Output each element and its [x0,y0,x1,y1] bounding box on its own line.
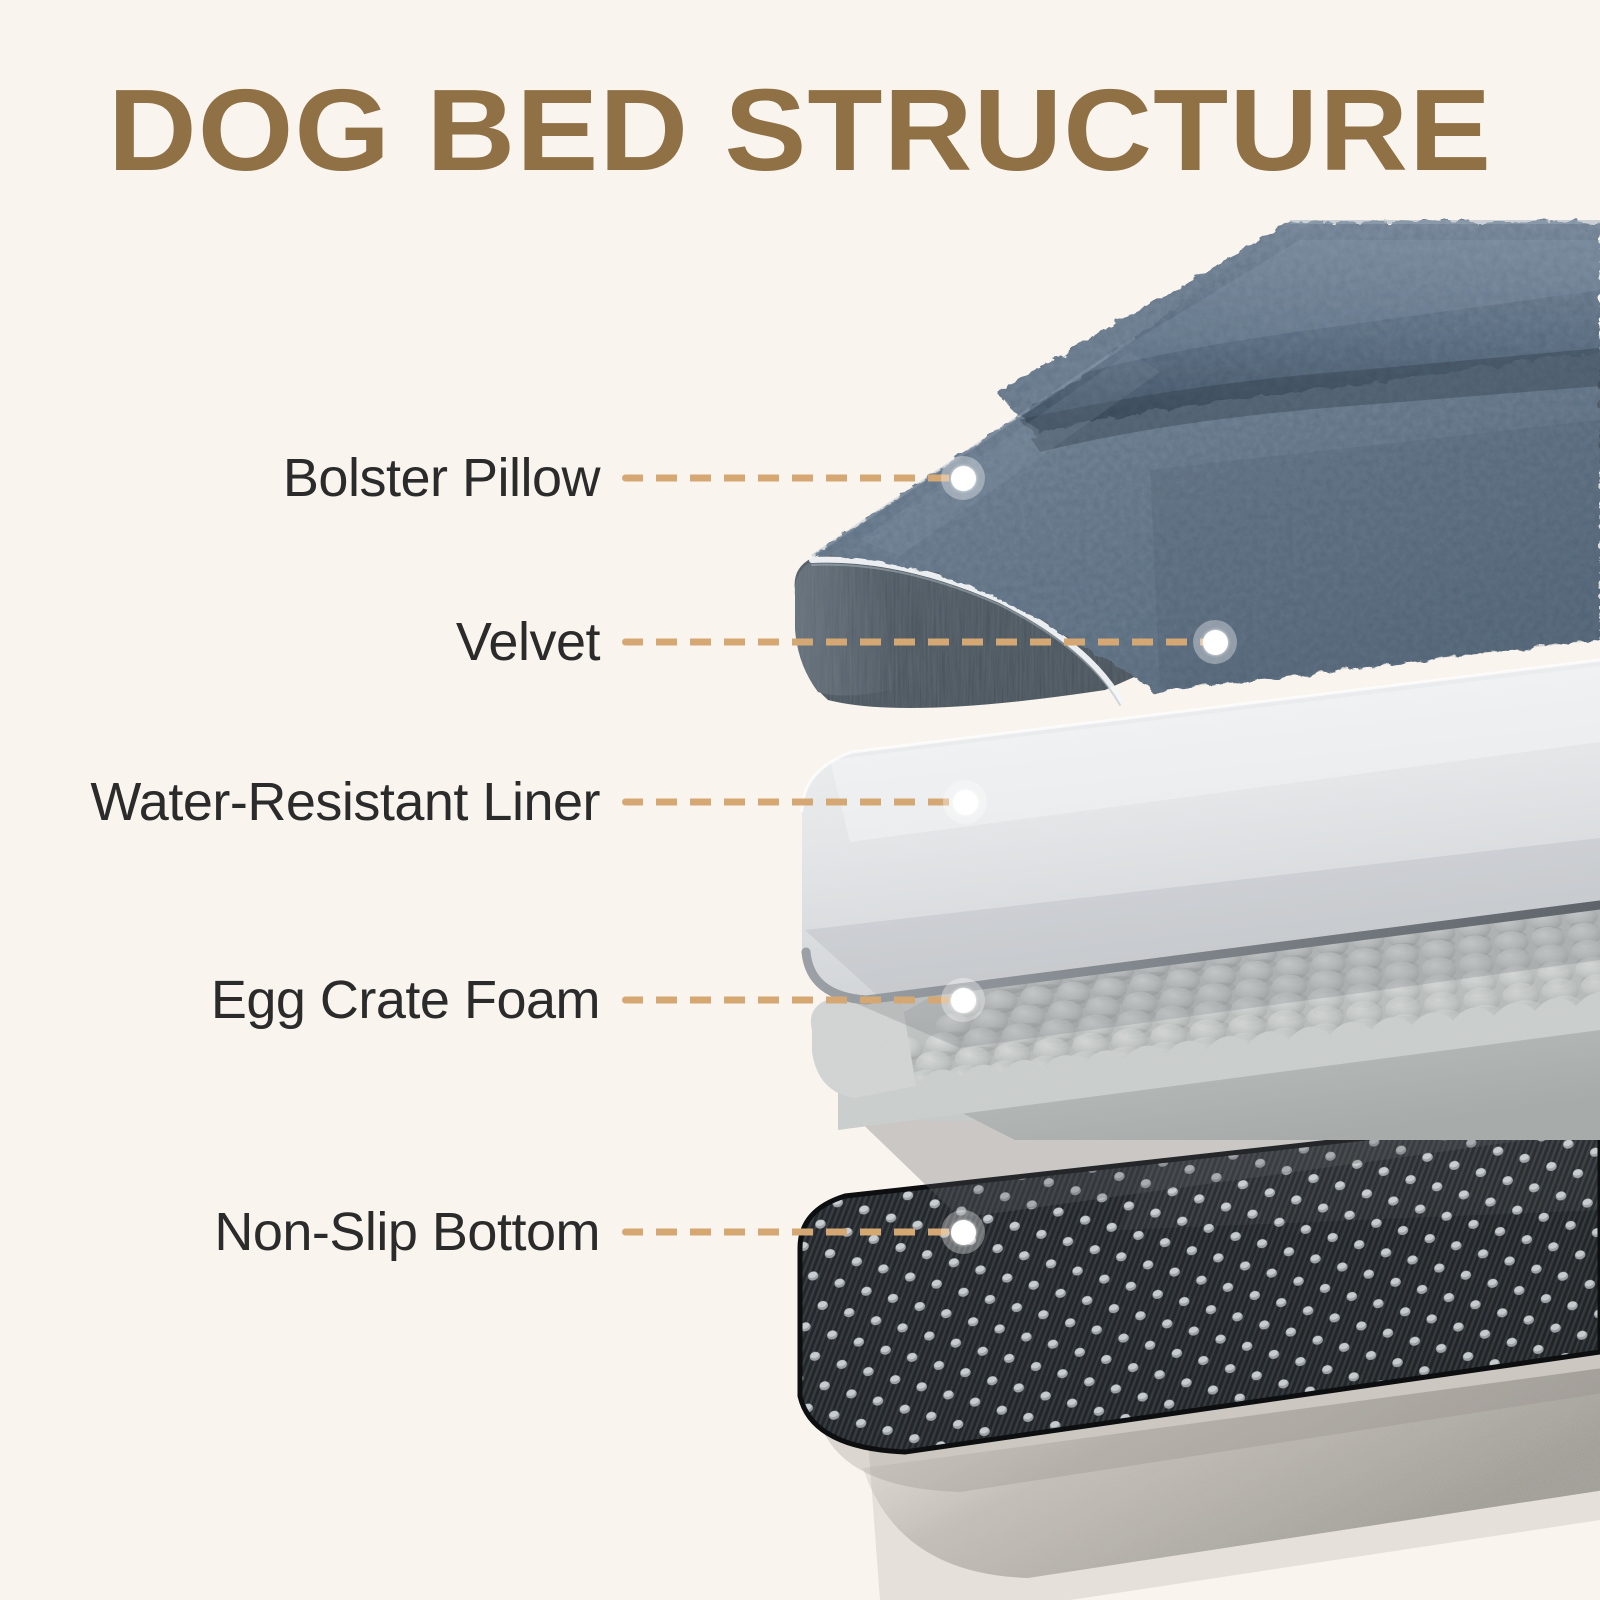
layer-non-slip-bottom [780,1080,1600,1492]
label-egg-crate-foam: Egg Crate Foam [211,973,600,1027]
marker-dot-bolster-pillow [941,456,985,500]
marker-dot-egg-crate-foam [941,978,985,1022]
leader-line-velvet [622,639,1215,646]
label-velvet: Velvet [456,615,600,669]
infographic-canvas: DOG BED STRUCTURE Bolster Pillow Velvet … [0,0,1600,1600]
layer-egg-crate-foam [811,853,1600,1218]
marker-dot-velvet [1193,620,1237,664]
layer-water-resistant-liner [790,640,1600,1048]
leader-line-egg-crate-foam [622,997,963,1004]
label-non-slip-bottom: Non-Slip Bottom [214,1205,600,1259]
leader-line-water-resistant-liner [622,799,965,806]
leader-line-bolster-pillow [622,475,963,482]
leader-line-non-slip-bottom [622,1229,963,1236]
marker-dot-water-resistant-liner [943,780,987,824]
page-title: DOG BED STRUCTURE [0,72,1600,188]
label-water-resistant-liner: Water-Resistant Liner [90,775,600,829]
marker-dot-non-slip-bottom [941,1210,985,1254]
label-bolster-pillow: Bolster Pillow [283,451,600,505]
